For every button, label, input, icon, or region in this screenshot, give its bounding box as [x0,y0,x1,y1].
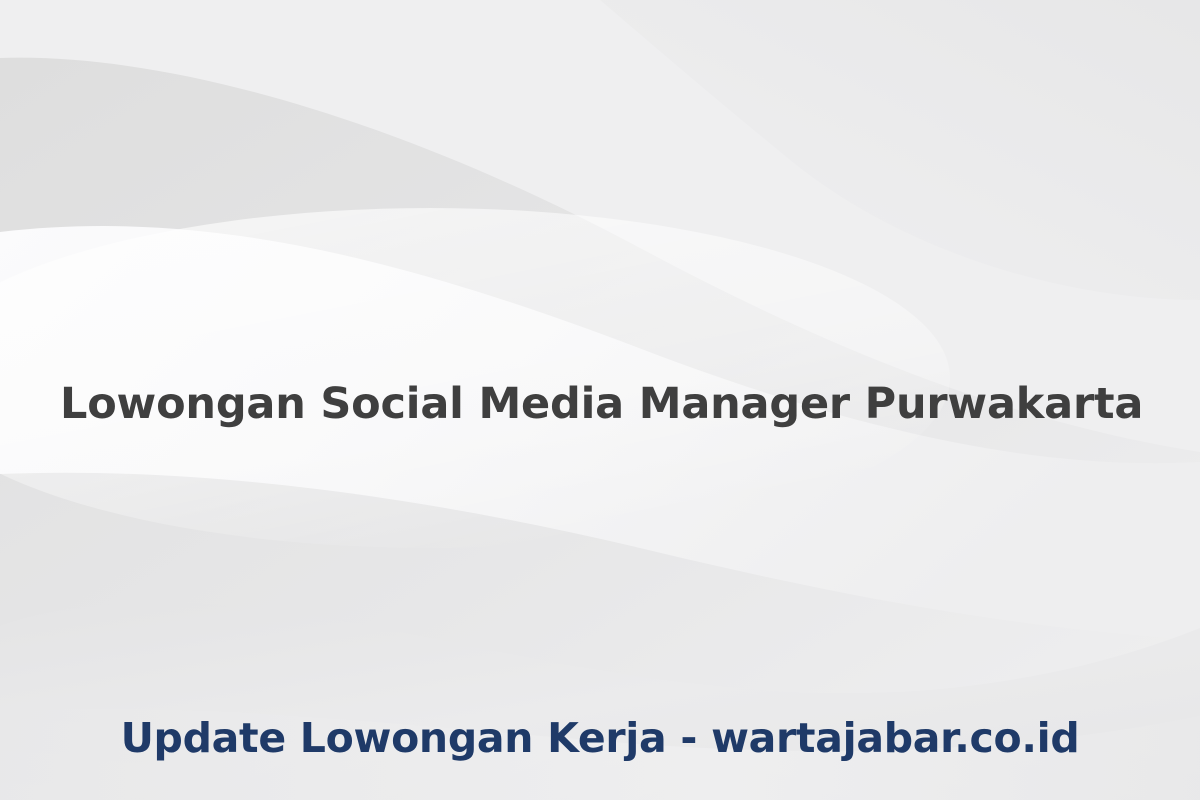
text-layer: Lowongan Social Media Manager Purwakarta… [0,0,1200,800]
page-title: Lowongan Social Media Manager Purwakarta [60,376,1140,432]
site-footer-text: Update Lowongan Kerja - wartajabar.co.id [40,712,1160,764]
banner-canvas: Lowongan Social Media Manager Purwakarta… [0,0,1200,800]
title-block: Lowongan Social Media Manager Purwakarta [0,376,1200,432]
footer-block: Update Lowongan Kerja - wartajabar.co.id [0,712,1200,764]
